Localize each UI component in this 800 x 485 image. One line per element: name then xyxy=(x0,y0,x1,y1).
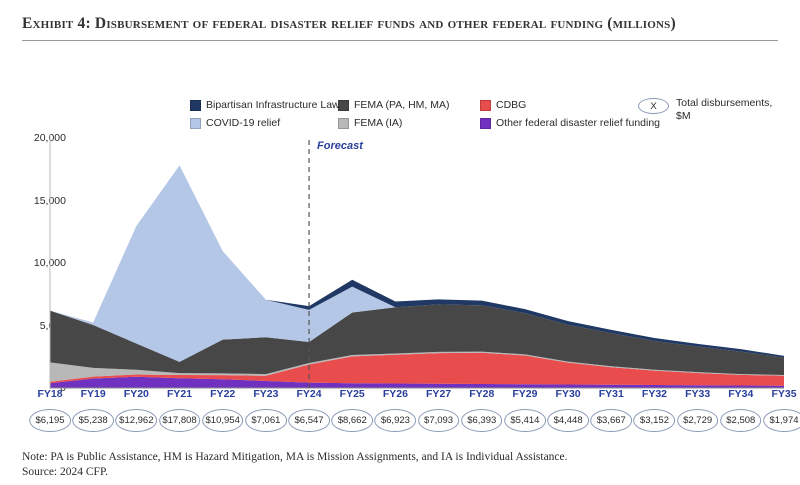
x-tick-label-fy21: FY21 xyxy=(167,388,192,400)
legend-label-bil: Bipartisan Infrastructure Law xyxy=(206,100,340,111)
stacked-area-chart xyxy=(0,130,800,395)
total-bubble-fy20: $12,962 xyxy=(116,409,158,432)
x-tick-label-fy25: FY25 xyxy=(340,388,365,400)
x-tick-label-fy20: FY20 xyxy=(124,388,149,400)
x-tick-label-fy28: FY28 xyxy=(469,388,494,400)
x-tick-label-fy30: FY30 xyxy=(556,388,581,400)
legend-swatch-covid xyxy=(190,118,201,129)
page-title: Exhibit 4: Disbursement of federal disas… xyxy=(22,14,778,35)
total-bubble-fy21: $17,808 xyxy=(159,409,201,432)
x-tick-label-fy35: FY35 xyxy=(771,388,796,400)
legend-label-other: Other federal disaster relief funding xyxy=(496,118,660,129)
legend-item-other: Other federal disaster relief funding xyxy=(480,118,650,129)
total-bubble-fy33: $2,729 xyxy=(677,409,719,432)
exhibit-page: Exhibit 4: Disbursement of federal disas… xyxy=(0,0,800,485)
total-bubble-fy27: $7,093 xyxy=(418,409,460,432)
total-bubble-fy25: $8,662 xyxy=(331,409,373,432)
total-bubble-fy35: $1,974 xyxy=(763,409,800,432)
total-bubble-fy18: $6,195 xyxy=(29,409,71,432)
total-disbursements-key: X Total disbursements,$M xyxy=(638,97,772,123)
legend-label-fema-pa: FEMA (PA, HM, MA) xyxy=(354,100,449,111)
x-tick-label-fy27: FY27 xyxy=(426,388,451,400)
x-axis-labels: FY18FY19FY20FY21FY22FY23FY24FY25FY26FY27… xyxy=(0,388,800,406)
legend-swatch-fema-pa xyxy=(338,100,349,111)
legend-swatch-fema-ia xyxy=(338,118,349,129)
legend-label-covid: COVID-19 relief xyxy=(206,118,280,129)
x-tick-label-fy23: FY23 xyxy=(253,388,278,400)
legend-label-cdbg: CDBG xyxy=(496,100,526,111)
footnote-source: Source: 2024 CFP. xyxy=(22,465,782,480)
legend-item-bil: Bipartisan Infrastructure Law xyxy=(190,100,338,111)
total-bubble-fy31: $3,667 xyxy=(590,409,632,432)
title-block: Exhibit 4: Disbursement of federal disas… xyxy=(22,14,778,41)
total-bubble-fy29: $5,414 xyxy=(504,409,546,432)
x-tick-label-fy34: FY34 xyxy=(728,388,753,400)
forecast-annotation: Forecast xyxy=(317,140,363,152)
x-tick-label-fy31: FY31 xyxy=(599,388,624,400)
x-tick-label-fy24: FY24 xyxy=(296,388,321,400)
x-tick-label-fy19: FY19 xyxy=(81,388,106,400)
legend-item-fema-pa: FEMA (PA, HM, MA) xyxy=(338,100,480,111)
total-bubble-fy28: $6,393 xyxy=(461,409,503,432)
plot-area: 05,00010,00015,00020,000 Forecast xyxy=(0,130,800,395)
x-tick-label-fy26: FY26 xyxy=(383,388,408,400)
total-bubble-fy22: $10,954 xyxy=(202,409,244,432)
legend-swatch-cdbg xyxy=(480,100,491,111)
footnote-note: Note: PA is Public Assistance, HM is Haz… xyxy=(22,450,782,465)
footer-notes: Note: PA is Public Assistance, HM is Haz… xyxy=(22,450,782,480)
x-tick-label-fy33: FY33 xyxy=(685,388,710,400)
x-tick-label-fy22: FY22 xyxy=(210,388,235,400)
legend-label-fema-ia: FEMA (IA) xyxy=(354,118,402,129)
total-bubble-fy34: $2,508 xyxy=(720,409,762,432)
total-key-symbol: X xyxy=(638,98,669,114)
total-bubble-fy19: $5,238 xyxy=(72,409,114,432)
x-tick-label-fy29: FY29 xyxy=(512,388,537,400)
total-key-label: Total disbursements,$M xyxy=(676,97,772,123)
legend-swatch-other xyxy=(480,118,491,129)
legend-swatch-bil xyxy=(190,100,201,111)
legend-item-cdbg: CDBG xyxy=(480,100,650,111)
total-bubble-fy23: $7,061 xyxy=(245,409,287,432)
chart-legend: Bipartisan Infrastructure Law FEMA (PA, … xyxy=(190,97,650,131)
legend-item-covid: COVID-19 relief xyxy=(190,118,338,129)
total-bubble-fy24: $6,547 xyxy=(288,409,330,432)
title-divider xyxy=(22,40,778,41)
total-disbursement-bubbles: $6,195$5,238$12,962$17,808$10,954$7,061$… xyxy=(0,409,800,433)
legend-item-fema-ia: FEMA (IA) xyxy=(338,118,480,129)
total-bubble-fy30: $4,448 xyxy=(547,409,589,432)
x-tick-label-fy32: FY32 xyxy=(642,388,667,400)
total-bubble-fy26: $6,923 xyxy=(375,409,417,432)
total-bubble-fy32: $3,152 xyxy=(634,409,676,432)
x-tick-label-fy18: FY18 xyxy=(37,388,62,400)
